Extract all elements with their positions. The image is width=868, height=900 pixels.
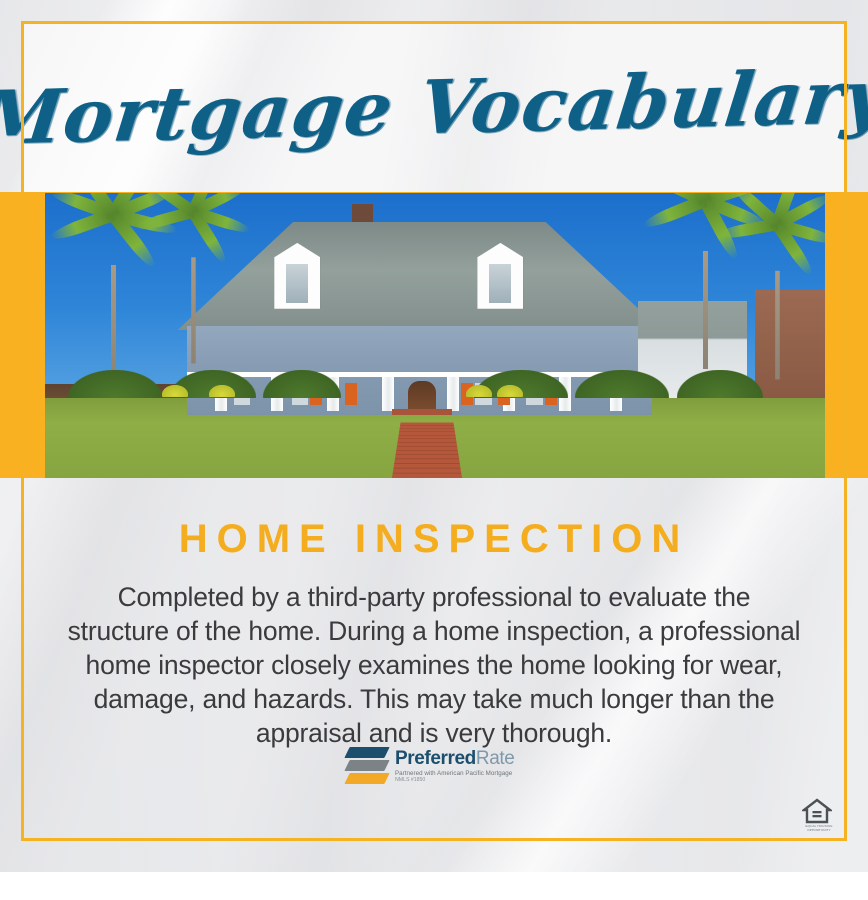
palm-trunk: [111, 265, 116, 383]
palm-trunk: [775, 271, 780, 379]
flower-bed: [162, 385, 188, 397]
logo-wordmark: PreferredRate: [395, 749, 514, 768]
flower-bed: [466, 385, 492, 397]
front-door: [408, 381, 436, 410]
logo-nmls: NMLS #1850: [395, 778, 514, 783]
term-headline: HOME INSPECTION: [24, 517, 844, 562]
logo-word-preferred: Preferred: [395, 748, 476, 769]
roof: [178, 222, 662, 331]
page-title: Mortgage Vocabulary: [0, 60, 868, 156]
palm-trunk: [703, 251, 708, 369]
flower-bed: [209, 385, 235, 397]
brick-walkway: [392, 423, 462, 478]
logo-text-group: PreferredRate Partnered with American Pa…: [395, 749, 514, 784]
title-band: Mortgage Vocabulary: [21, 24, 847, 192]
equal-housing-caption: EQUAL HOUSING OPPORTUNITY: [802, 825, 836, 832]
front-steps: [392, 409, 452, 415]
eho-caption-line2: OPPORTUNITY: [807, 828, 830, 832]
equal-housing-opportunity-icon: [802, 798, 832, 824]
equal-housing-opportunity: EQUAL HOUSING OPPORTUNITY: [802, 798, 836, 834]
porch-column: [382, 377, 394, 411]
logo-word-rate: Rate: [476, 748, 515, 769]
porch-column: [447, 377, 459, 411]
shrub: [68, 370, 162, 399]
shrub: [575, 370, 669, 399]
logo-bar-navy: [344, 747, 389, 758]
logo-tagline: Partnered with American Pacific Mortgage: [395, 771, 514, 777]
flower-bed: [497, 385, 523, 397]
logo-bar-gold: [344, 773, 389, 784]
palm-tree: [139, 193, 247, 364]
shrub: [263, 370, 341, 399]
palm-trunk: [191, 257, 196, 363]
palm-tree: [722, 205, 825, 380]
preferred-rate-logo: PreferredRate Partnered with American Pa…: [345, 742, 523, 790]
term-definition: Completed by a third-party professional …: [65, 580, 803, 750]
preferred-rate-logo-mark-icon: [345, 744, 391, 788]
shrub: [677, 370, 763, 399]
poster-canvas: Mortgage Vocabulary: [0, 0, 868, 900]
logo-bar-gray: [344, 760, 389, 771]
house-photo: [45, 193, 825, 478]
shutter: [345, 383, 357, 405]
